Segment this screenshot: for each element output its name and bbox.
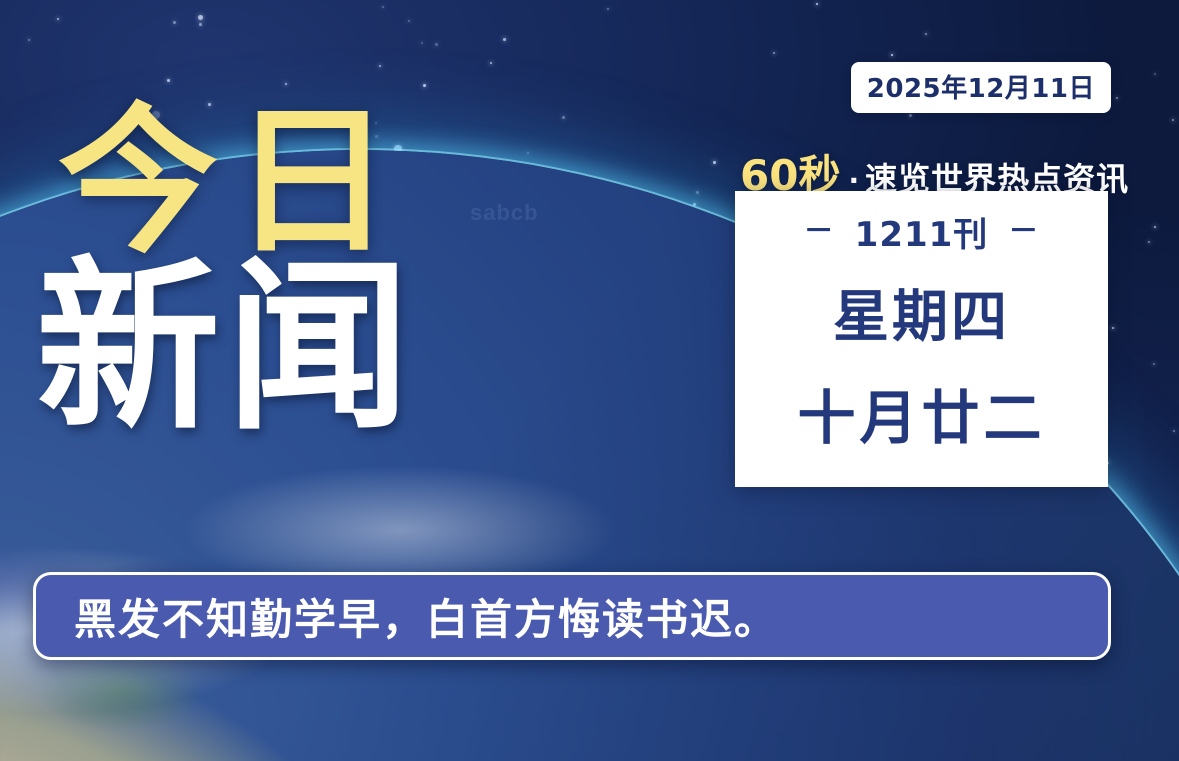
date-badge: 2025年12月11日 (851, 62, 1111, 113)
title-line-xinwen: 新闻 (36, 252, 416, 445)
issue-number: 1211刊 (855, 207, 989, 256)
issue-info-card: － 1211刊 － 星期四 十月廿二 (735, 191, 1108, 487)
issue-dash-left: － (804, 217, 835, 247)
lunar-date-label: 十月廿二 (797, 371, 1045, 455)
quote-banner: 黑发不知勤学早，白首方悔读书迟。 (33, 572, 1111, 660)
issue-dash-right: － (1008, 217, 1039, 247)
quote-text: 黑发不知勤学早，白首方悔读书迟。 (74, 586, 778, 647)
news-poster: sabcb 今日 新闻 2025年12月11日 60秒 · 速览世界热点资讯 －… (0, 0, 1179, 761)
weekday-label: 星期四 (833, 272, 1010, 353)
watermark: sabcb (470, 200, 539, 226)
page-title: 今日 新闻 (58, 98, 416, 445)
issue-row: － 1211刊 － (804, 207, 1040, 256)
